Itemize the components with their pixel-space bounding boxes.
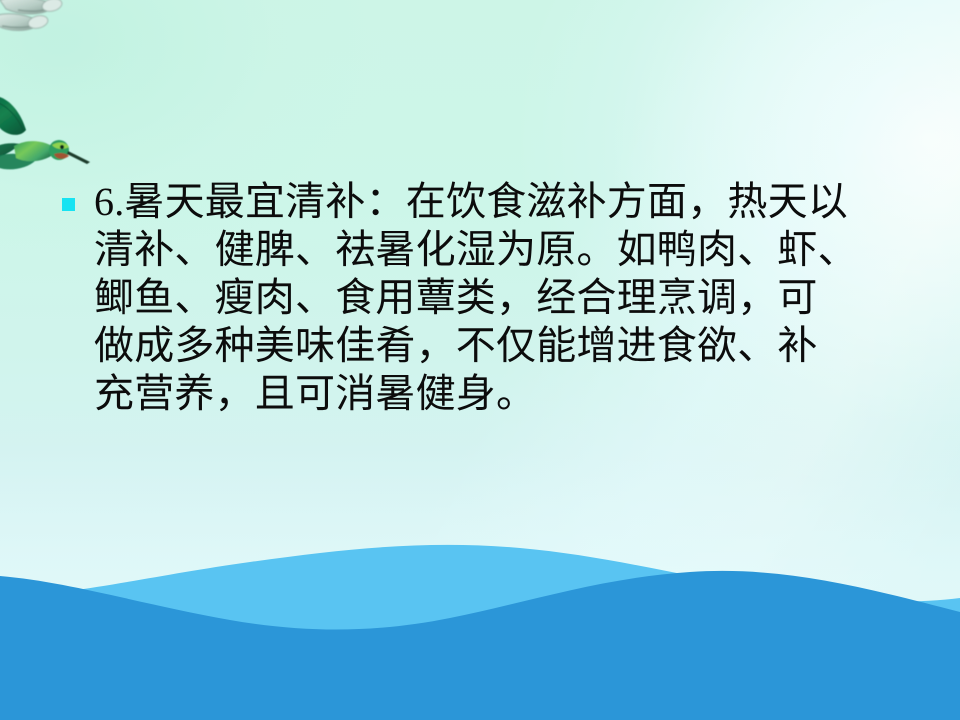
wave-decoration xyxy=(0,520,960,720)
presentation-slide: 6.暑天最宜清补：在饮食滋补方面，热天以 清补、健脾、祛暑化湿为原。如鸭肉、虾、… xyxy=(0,0,960,720)
leaf-sprig-icon xyxy=(0,0,104,57)
bullet-square-icon xyxy=(62,198,75,211)
content-text-block: 6.暑天最宜清补：在饮食滋补方面，热天以 清补、健脾、祛暑化湿为原。如鸭肉、虾、… xyxy=(60,178,916,418)
body-paragraph: 6.暑天最宜清补：在饮食滋补方面，热天以 清补、健脾、祛暑化湿为原。如鸭肉、虾、… xyxy=(60,178,916,418)
